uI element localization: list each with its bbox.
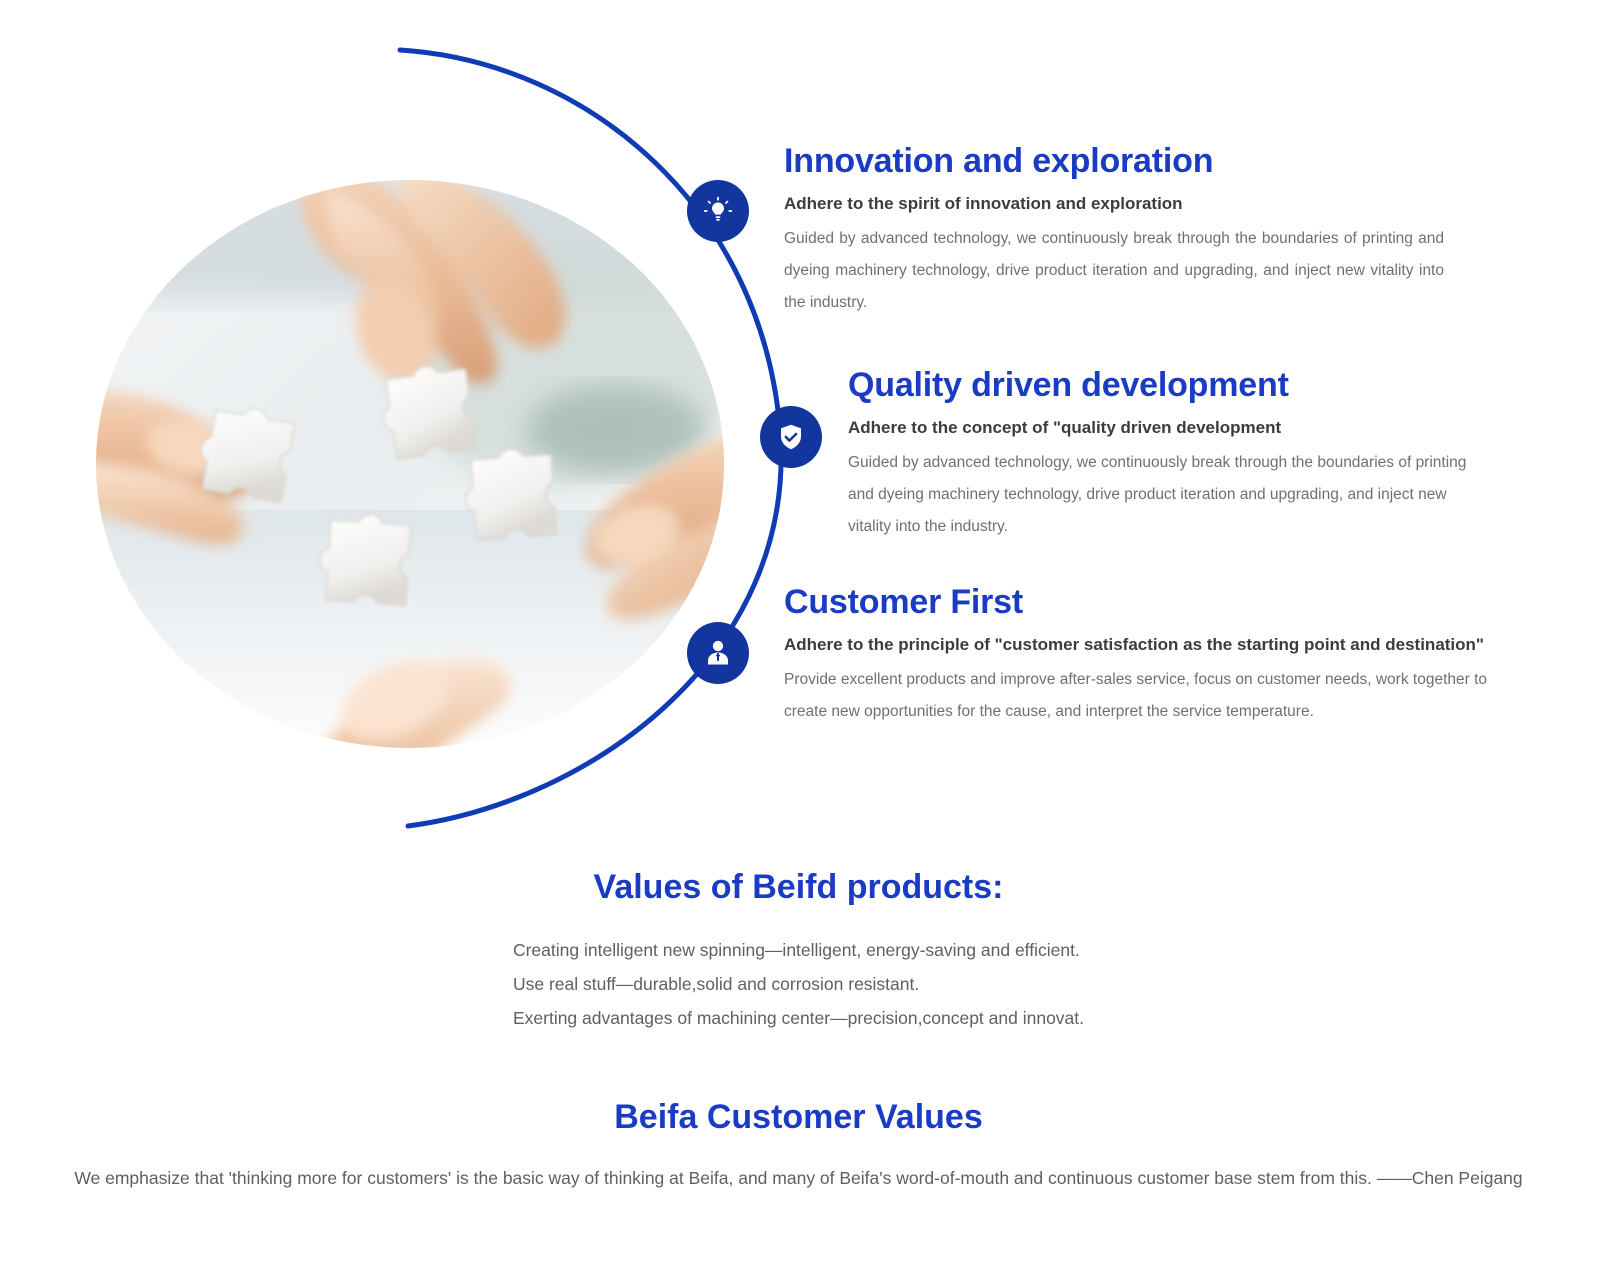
customer-values-section: Beifa Customer Values We emphasize that … (0, 1098, 1597, 1191)
block-title-customer: Customer First (784, 583, 1524, 622)
block-title-quality: Quality driven development (848, 366, 1488, 405)
block-title-innovation: Innovation and exploration (784, 142, 1444, 181)
lightbulb-glyph (703, 196, 733, 226)
person-user-icon[interactable] (687, 622, 749, 684)
block-lead-innovation: Adhere to the spirit of innovation and e… (784, 191, 1444, 217)
value-block-innovation: Innovation and exploration Adhere to the… (784, 142, 1444, 319)
puzzle-photo-illustration (96, 180, 724, 748)
shield-check-icon[interactable] (760, 406, 822, 468)
values-title: Values of Beifd products: (0, 868, 1597, 907)
person-glyph (703, 638, 733, 668)
values-line: Exerting advantages of machining center—… (513, 1001, 1084, 1035)
customer-values-quote: We emphasize that 'thinking more for cus… (0, 1165, 1597, 1191)
puzzle-teamwork-photo (96, 180, 724, 748)
block-body-customer: Provide excellent products and improve a… (784, 664, 1524, 728)
values-line: Creating intelligent new spinning—intell… (513, 933, 1084, 967)
hero-section: Innovation and exploration Adhere to the… (0, 0, 1597, 860)
lightbulb-icon[interactable] (687, 180, 749, 242)
block-lead-customer: Adhere to the principle of "customer sat… (784, 632, 1524, 658)
block-lead-quality: Adhere to the concept of "quality driven… (848, 415, 1488, 441)
customer-values-title: Beifa Customer Values (0, 1098, 1597, 1137)
block-body-quality: Guided by advanced technology, we contin… (848, 447, 1488, 544)
shield-check-glyph (776, 422, 806, 452)
block-body-innovation: Guided by advanced technology, we contin… (784, 223, 1444, 320)
values-line: Use real stuff—durable,solid and corrosi… (513, 967, 1084, 1001)
values-section: Values of Beifd products: Creating intel… (0, 868, 1597, 1035)
value-block-quality: Quality driven development Adhere to the… (848, 366, 1488, 543)
values-line-list: Creating intelligent new spinning—intell… (513, 933, 1084, 1035)
value-block-customer: Customer First Adhere to the principle o… (784, 583, 1524, 728)
